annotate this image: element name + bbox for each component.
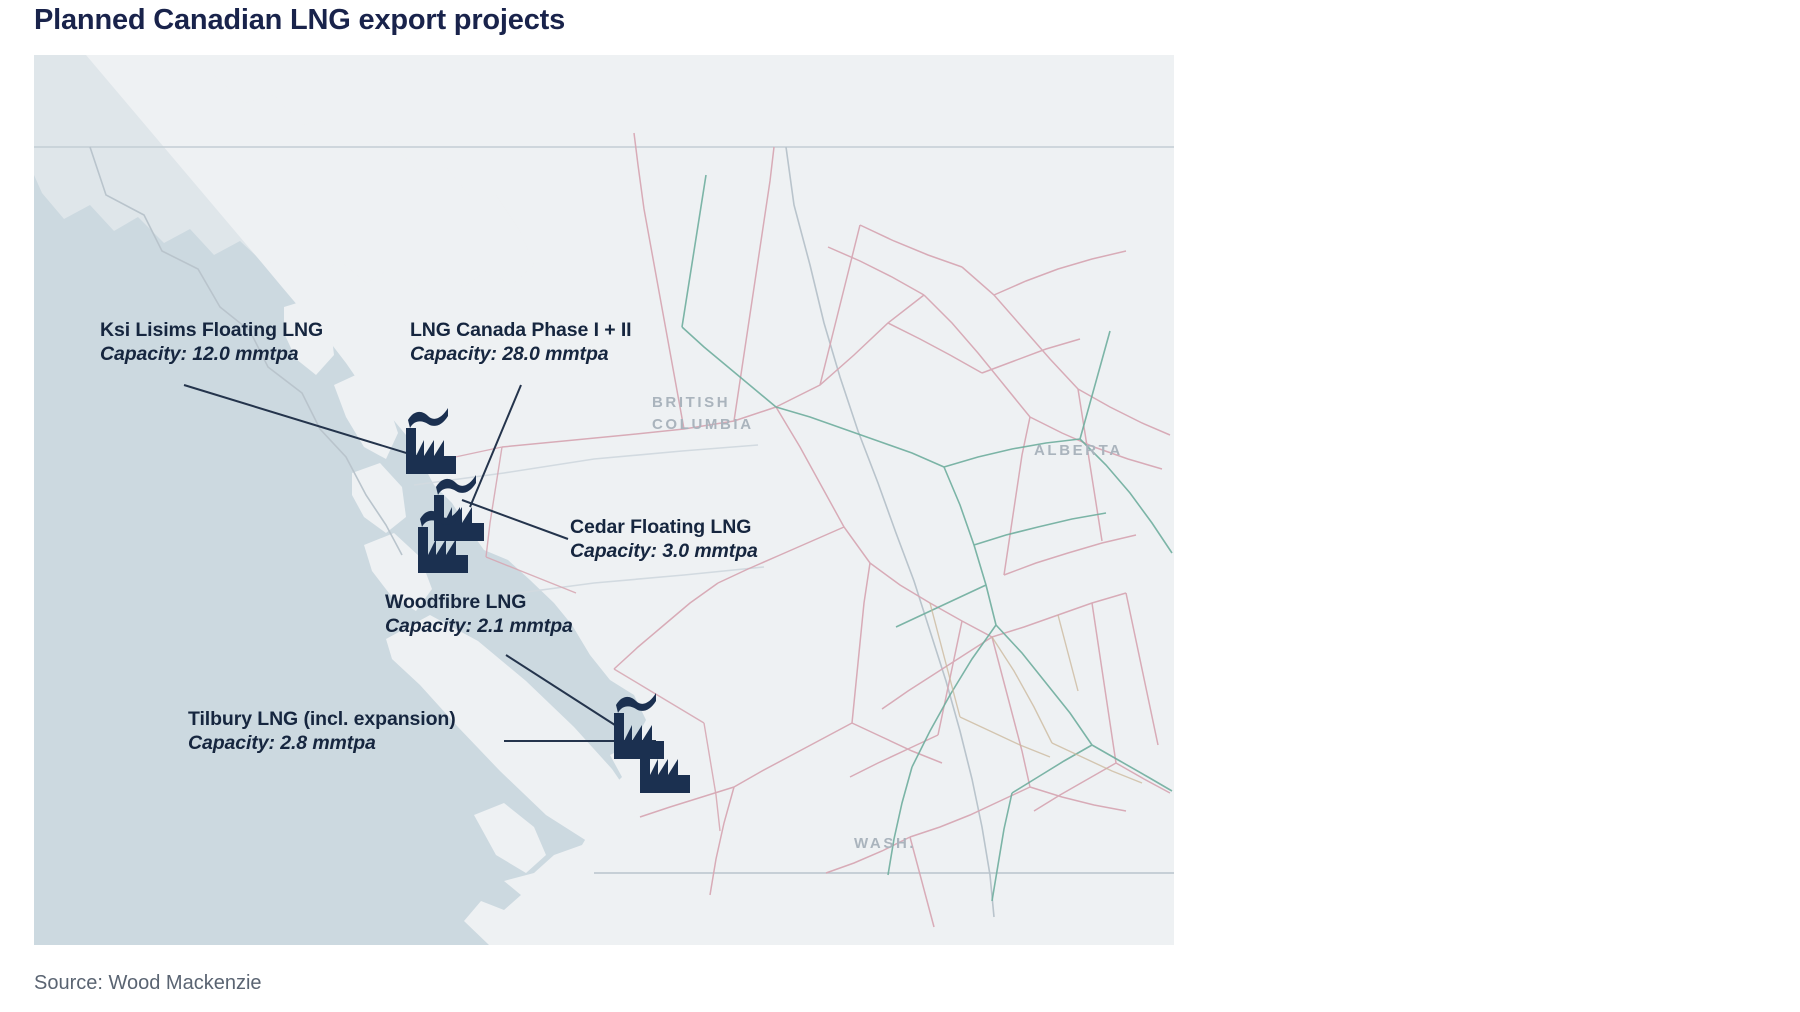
label-british-columbia-line2: COLUMBIA <box>652 416 754 433</box>
callout-cedar: Cedar Floating LNG Capacity: 3.0 mmtpa <box>570 515 758 563</box>
source-note: Source: Wood Mackenzie <box>34 972 262 995</box>
label-washington: WASH. <box>854 835 916 852</box>
project-name-cedar: Cedar Floating LNG <box>570 515 758 539</box>
callout-ksi-lisims: Ksi Lisims Floating LNG Capacity: 12.0 m… <box>100 318 323 366</box>
project-capacity-woodfibre: Capacity: 2.1 mmtpa <box>385 614 573 638</box>
project-capacity-ksi-lisims: Capacity: 12.0 mmtpa <box>100 342 323 366</box>
project-name-woodfibre: Woodfibre LNG <box>385 590 573 614</box>
project-capacity-lng-canada: Capacity: 28.0 mmtpa <box>410 342 631 366</box>
project-capacity-cedar: Capacity: 3.0 mmtpa <box>570 539 758 563</box>
project-name-tilbury: Tilbury LNG (incl. expansion) <box>188 707 456 731</box>
map-canvas: BRITISH COLUMBIA ALBERTA WASH. <box>34 55 1174 945</box>
callout-lng-canada: LNG Canada Phase I + II Capacity: 28.0 m… <box>410 318 631 366</box>
label-alberta: ALBERTA <box>1034 442 1123 459</box>
callout-woodfibre: Woodfibre LNG Capacity: 2.1 mmtpa <box>385 590 573 638</box>
project-name-lng-canada: LNG Canada Phase I + II <box>410 318 631 342</box>
label-british-columbia-line1: BRITISH <box>652 394 730 411</box>
project-capacity-tilbury: Capacity: 2.8 mmtpa <box>188 731 456 755</box>
callout-tilbury: Tilbury LNG (incl. expansion) Capacity: … <box>188 707 456 755</box>
map-figure: BRITISH COLUMBIA ALBERTA WASH. <box>34 55 1174 945</box>
page-title: Planned Canadian LNG export projects <box>34 4 565 37</box>
project-name-ksi-lisims: Ksi Lisims Floating LNG <box>100 318 323 342</box>
